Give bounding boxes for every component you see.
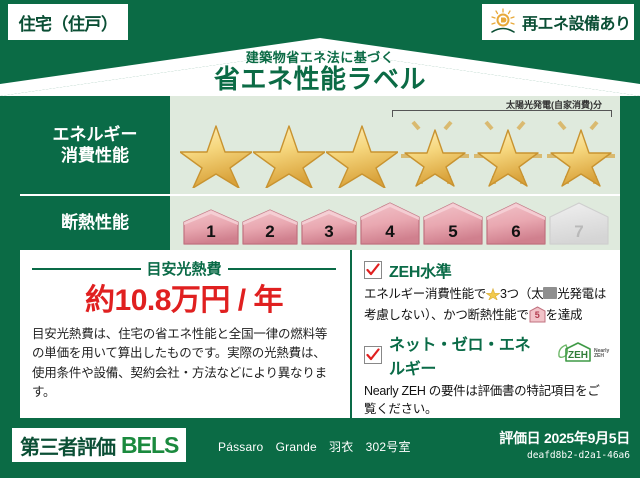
inline-insulation-house-value: 5 — [529, 309, 546, 323]
inline-insulation-house-icon: 5 — [529, 306, 546, 323]
star-6-solar — [545, 112, 617, 188]
zeh-standard-title-row: ZEH水準 — [364, 258, 610, 282]
insulation-level-2: 2 — [241, 208, 299, 246]
zeh-logo-icon: ZEH Nearly ZEH — [556, 340, 610, 369]
star-4-solar — [399, 112, 471, 188]
insulation-level-3: 3 — [300, 208, 358, 246]
insulation-level-6: 6 — [485, 201, 547, 246]
zeh-block-container: ZEH水準 エネルギー消費性能で3つ（太光発電は考慮しない）、かつ断熱性能で5を… — [350, 250, 620, 418]
insulation-level-5-value: 5 — [422, 222, 484, 242]
energy-performance-label: 住宅（住戸） 再エネ設備あり — [0, 0, 640, 478]
bels-logo-en: BELS — [121, 432, 178, 459]
label-card: エネルギー 消費性能 太陽光発電(自家消費)分 — [20, 96, 620, 418]
energy-performance-label-box: エネルギー 消費性能 — [20, 96, 170, 194]
badge-housing-type: 住宅（住戸） — [8, 4, 128, 40]
footer: 第三者評価 BELS Pássaro Grande 羽衣 302号室 評価日 2… — [0, 418, 640, 478]
property-address: Pássaro Grande 羽衣 302号室 — [218, 438, 411, 455]
badge-renewable-equipment: 再エネ設備あり — [482, 4, 634, 40]
zeh-netzero-text: Nearly ZEH の要件は評価書の特記項目をご覧ください。 — [364, 382, 610, 420]
svg-text:ZEH: ZEH — [594, 353, 604, 359]
insulation-level-2-value: 2 — [241, 222, 299, 242]
insulation-level-3-value: 3 — [300, 222, 358, 242]
zeh-netzero-title-row: ネット・ゼロ・エネルギー ZEH Nearly ZEH — [364, 331, 610, 379]
energy-label-line2: 消費性能 — [61, 145, 129, 166]
evaluation-date: 評価日 2025年9月5日 — [499, 428, 630, 448]
sun-renewable-icon — [488, 8, 518, 36]
inline-star-icon — [486, 286, 500, 306]
evaluation-id: deafd8b2-d2a1-46a6 — [499, 450, 630, 461]
star-2 — [253, 112, 325, 188]
zeh-netzero-block: ネット・ゼロ・エネルギー ZEH Nearly ZEH Nearly ZEH の… — [364, 331, 610, 420]
zeh-standard-title: ZEH水準 — [389, 258, 452, 282]
lower-section: 目安光熱費 約10.8万円 / 年 目安光熱費は、住宅の省エネ性能と全国一律の燃… — [20, 250, 620, 418]
rule-left — [32, 268, 141, 270]
zeh-standard-star-count: 3つ（太 — [500, 287, 543, 301]
insulation-level-7-value: 7 — [548, 222, 610, 242]
energy-cost-block: 目安光熱費 約10.8万円 / 年 目安光熱費は、住宅の省エネ性能と全国一律の燃… — [20, 250, 350, 418]
energy-performance-row: エネルギー 消費性能 太陽光発電(自家消費)分 — [20, 96, 620, 194]
zeh-standard-text-part3: を達成 — [546, 308, 583, 322]
insulation-level-4-value: 4 — [359, 222, 421, 242]
bels-logo-jp: 第三者評価 — [20, 431, 115, 460]
zeh-netzero-title: ネット・ゼロ・エネルギー — [389, 331, 545, 379]
insulation-level-5: 5 — [422, 201, 484, 246]
checkbox-zeh-netzero[interactable] — [364, 346, 382, 364]
zeh-standard-text: エネルギー消費性能で3つ（太光発電は考慮しない）、かつ断熱性能で5を達成 — [364, 285, 610, 325]
star-3 — [326, 112, 398, 188]
rule-right — [228, 268, 337, 270]
insulation-level-6-value: 6 — [485, 222, 547, 242]
energy-cost-note: 目安光熱費は、住宅の省エネ性能と全国一律の燃料等の単価を用いて算出したものです。… — [32, 325, 336, 403]
insulation-level-4: 4 — [359, 201, 421, 246]
evaluation-info: 評価日 2025年9月5日 deafd8b2-d2a1-46a6 — [499, 428, 630, 461]
star-1 — [180, 112, 252, 188]
roof-shape — [0, 38, 640, 96]
energy-label-line1: エネルギー — [53, 124, 138, 145]
insulation-levels: 1 2 3 — [170, 196, 620, 250]
energy-performance-stars-area: 太陽光発電(自家消費)分 — [170, 96, 620, 194]
redacted-text-block — [543, 287, 557, 299]
energy-cost-heading-label: 目安光熱費 — [147, 258, 222, 279]
star-rating — [180, 112, 617, 188]
insulation-level-7: 7 — [548, 201, 610, 246]
svg-text:ZEH: ZEH — [568, 350, 588, 361]
insulation-level-1: 1 — [182, 208, 240, 246]
insulation-level-1-value: 1 — [182, 222, 240, 242]
insulation-performance-label-box: 断熱性能 — [20, 196, 170, 250]
badge-housing-type-label: 住宅（住戸） — [19, 10, 118, 35]
energy-cost-heading: 目安光熱費 — [32, 258, 336, 279]
checkbox-zeh-standard[interactable] — [364, 261, 382, 279]
star-5-solar — [472, 112, 544, 188]
insulation-performance-row: 断熱性能 — [20, 194, 620, 250]
bels-logo: 第三者評価 BELS — [12, 428, 186, 462]
badge-renewable-label: 再エネ設備あり — [522, 10, 631, 34]
zeh-standard-block: ZEH水準 エネルギー消費性能で3つ（太光発電は考慮しない）、かつ断熱性能で5を… — [364, 258, 610, 325]
energy-cost-value: 約10.8万円 / 年 — [32, 281, 336, 320]
zeh-standard-text-part1: エネルギー消費性能で — [364, 287, 486, 301]
insulation-label: 断熱性能 — [61, 212, 129, 233]
